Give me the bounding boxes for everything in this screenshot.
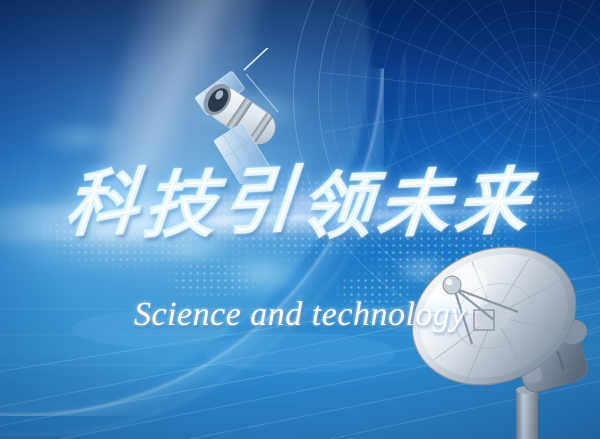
page-subtitle: Science and technology [0,296,600,334]
poster-canvas: 科技引领未来 Science and technology [0,0,600,439]
page-title: 科技引领未来 [0,168,600,240]
headline-char-2: 技 [141,169,225,242]
headline-char-1: 科 [63,167,148,242]
headline-char-6: 来 [452,166,538,241]
headline-char-4: 领 [297,170,381,244]
headline-char-3: 引 [219,164,304,240]
lens-flare-spot [215,248,311,300]
headline-char-5: 未 [375,168,460,243]
